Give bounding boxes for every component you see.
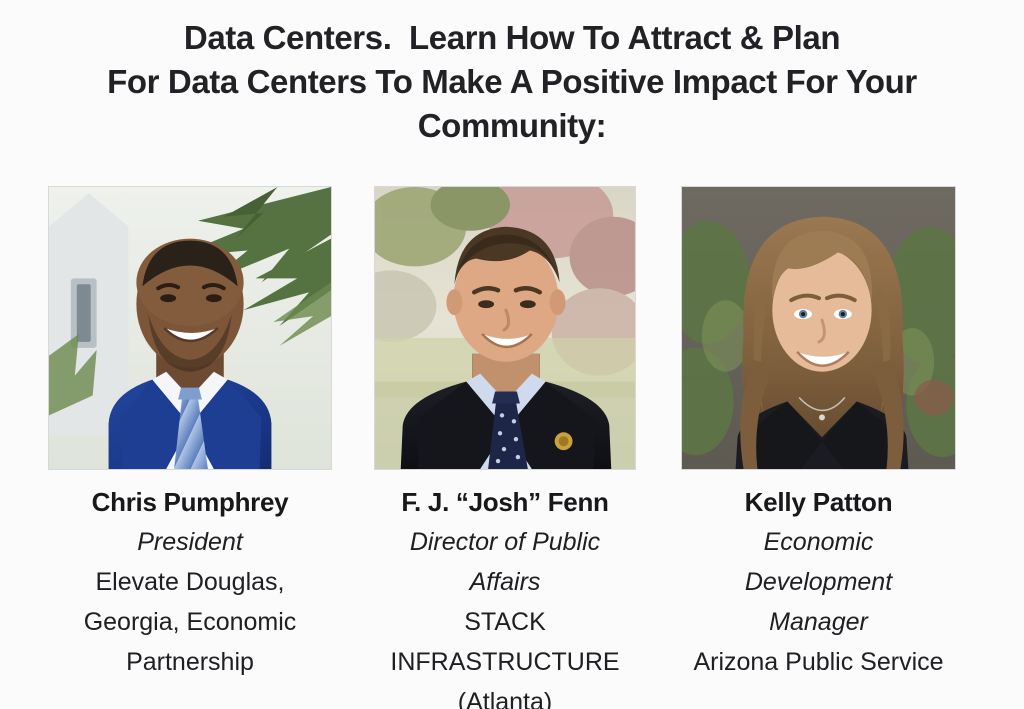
page-title-line-3: Community: [24,104,1000,148]
speaker-organization-line: STACK [374,602,636,642]
speaker-caption-chris-pumphrey: Chris Pumphrey President Elevate Douglas… [48,482,332,682]
speaker-caption-kelly-patton: Kelly Patton Economic Development Manage… [681,482,956,682]
speaker-photo-fj-josh-fenn [374,186,636,470]
speaker-organization: Arizona Public Service [681,642,956,682]
speaker-organization-line: Elevate Douglas, [48,562,332,602]
page-title: Data Centers. Learn How To Attract & Pla… [0,16,1024,148]
speaker-organization: STACK INFRASTRUCTURE (Atlanta) [374,602,636,709]
speaker-organization-line: Georgia, Economic [48,602,332,642]
speaker-role-line: Director of Public [374,522,636,562]
speaker-role-line: Economic [681,522,956,562]
speaker-organization: Elevate Douglas, Georgia, Economic Partn… [48,562,332,682]
speaker-caption-fj-josh-fenn: F. J. “Josh” Fenn Director of Public Aff… [374,482,636,709]
speaker-organization-line: Arizona Public Service [681,642,956,682]
speaker-card-chris-pumphrey: Chris Pumphrey President Elevate Douglas… [48,186,332,682]
speaker-card-kelly-patton: Kelly Patton Economic Development Manage… [681,186,956,682]
slide-page: Data Centers. Learn How To Attract & Pla… [0,0,1024,709]
speaker-role-line: Development [681,562,956,602]
speaker-role: Director of Public Affairs [374,522,636,602]
speaker-photo-kelly-patton [681,186,956,470]
speaker-role-line: Manager [681,602,956,642]
page-title-line-1: Data Centers. Learn How To Attract & Pla… [24,16,1000,60]
speaker-role: Economic Development Manager [681,522,956,642]
page-title-line-2: For Data Centers To Make A Positive Impa… [24,60,1000,104]
speaker-organization-line: (Atlanta) [374,682,636,709]
speaker-name: F. J. “Josh” Fenn [374,482,636,522]
speaker-card-fj-josh-fenn: F. J. “Josh” Fenn Director of Public Aff… [374,186,636,709]
speaker-name: Kelly Patton [681,482,956,522]
speaker-photo-chris-pumphrey [48,186,332,470]
speaker-name: Chris Pumphrey [48,482,332,522]
speaker-role: President [48,522,332,562]
speaker-organization-line: INFRASTRUCTURE [374,642,636,682]
speaker-role-line: Affairs [374,562,636,602]
speaker-organization-line: Partnership [48,642,332,682]
